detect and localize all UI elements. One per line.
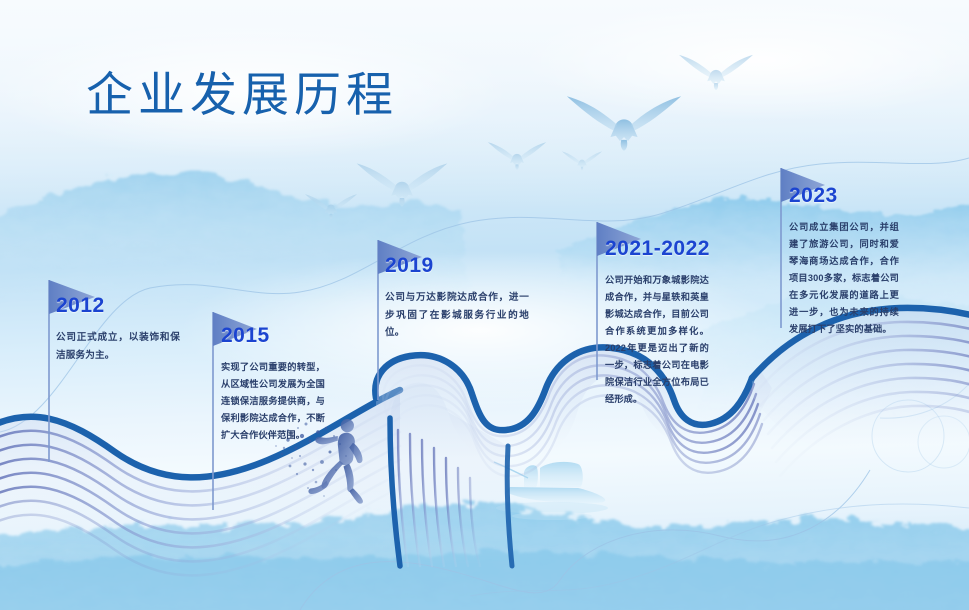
milestone-2021-2022: 2021-2022 公司开始和万象城影院达成合作，并与星轶和英皇影城达成合作，目… <box>605 238 709 408</box>
milestone-year: 2019 <box>385 255 529 276</box>
milestone-year: 2021-2022 <box>605 238 709 259</box>
milestone-description: 公司正式成立，以装饰和保洁服务为主。 <box>56 329 180 364</box>
milestone-year: 2012 <box>56 295 180 316</box>
milestone-description: 公司与万达影院达成合作，进一步巩固了在影城服务行业的地位。 <box>385 289 529 342</box>
milestone-description: 公司成立集团公司，并组建了旅游公司，同时和爱琴海商场达成合作，合作项目300多家… <box>789 219 899 338</box>
milestone-2023: 2023 公司成立集团公司，并组建了旅游公司，同时和爱琴海商场达成合作，合作项目… <box>789 185 899 338</box>
milestone-2012: 2012 公司正式成立，以装饰和保洁服务为主。 <box>56 295 180 364</box>
milestone-description: 公司开始和万象城影院达成合作，并与星轶和英皇影城达成合作，目前公司合作系统更加多… <box>605 272 709 408</box>
milestone-2019: 2019 公司与万达影院达成合作，进一步巩固了在影城服务行业的地位。 <box>385 255 529 342</box>
milestone-2015: 2015 实现了公司重要的转型，从区域性公司发展为全国连锁保洁服务提供商，与保利… <box>221 325 325 444</box>
milestone-year: 2015 <box>221 325 325 346</box>
page-title: 企业发展历程 <box>86 56 398 125</box>
milestone-description: 实现了公司重要的转型，从区域性公司发展为全国连锁保洁服务提供商，与保利影院达成合… <box>221 359 325 444</box>
poster-canvas: 企业发展历程 2012 公司正式成立，以装饰和保洁服务为主。 2015 实现了公… <box>0 0 969 610</box>
milestone-year: 2023 <box>789 185 899 206</box>
